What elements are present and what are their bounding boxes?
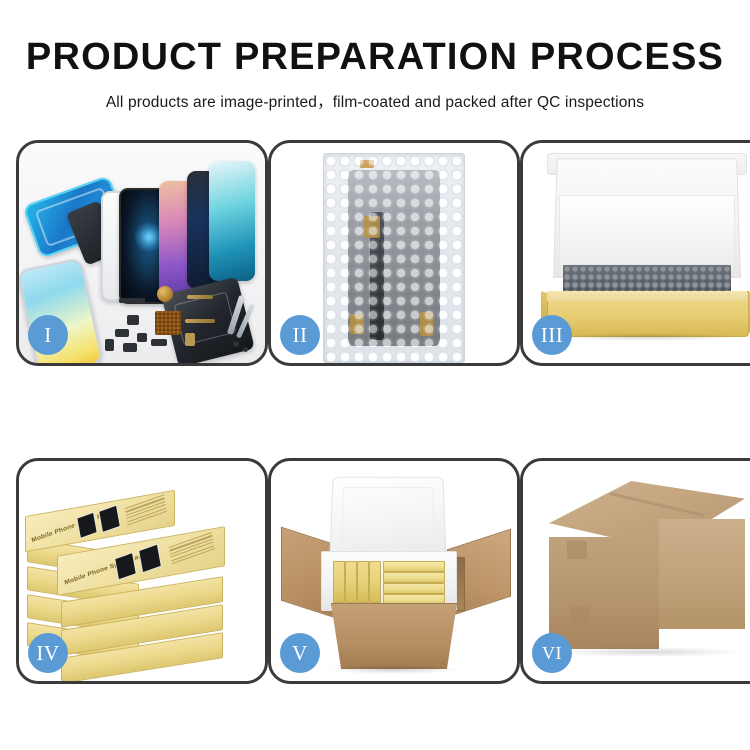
step-badge-3: III <box>532 315 572 355</box>
photo-product-parts-overview: I <box>19 143 265 363</box>
photo-bubble-wrap-packing: II <box>271 143 517 363</box>
step-panel-4: Mobile Phone Spare Parts Mobi <box>16 458 268 684</box>
packed-yellow-box-6 <box>383 572 445 583</box>
photo-sealed-shipping-carton: VI <box>523 461 750 681</box>
step-badge-2: II <box>280 315 320 355</box>
photo-foam-box-packing: III <box>523 143 750 363</box>
part-speaker-mesh <box>119 298 145 303</box>
packed-yellow-box-4 <box>369 561 381 603</box>
part-screws-2 <box>243 347 248 352</box>
step-badge-1: I <box>28 315 68 355</box>
part-earpiece <box>123 343 137 352</box>
part-button-set <box>151 339 167 346</box>
packed-yellow-box-1 <box>333 561 345 603</box>
photo-carton-inner-packing: V <box>271 461 517 681</box>
header: PRODUCT PREPARATION PROCESS All products… <box>0 0 750 112</box>
part-vibration-motor <box>157 286 173 302</box>
part-flex-cable-2 <box>185 319 215 323</box>
foam-sheet-image <box>559 195 735 269</box>
tape-top <box>360 160 374 168</box>
step-panel-5: V <box>268 458 520 684</box>
connector-bottom-left <box>350 314 364 334</box>
part-connector-2 <box>137 333 147 342</box>
connector-bottom-right <box>420 312 433 336</box>
photo-retail-box-stack: Mobile Phone Spare Parts Mobi <box>19 461 265 681</box>
yellow-box-front-edge <box>547 291 747 301</box>
phone-teal-image <box>209 161 255 281</box>
packed-yellow-box-5 <box>383 561 445 572</box>
part-screws <box>233 341 239 347</box>
step-badge-4: IV <box>28 633 68 673</box>
carton-shadow <box>553 647 743 657</box>
process-steps-grid: I II <box>16 140 734 684</box>
carton-tape-lower <box>571 607 589 625</box>
foam-box-lid-image <box>329 477 446 558</box>
step-panel-2: II <box>268 140 520 366</box>
packed-yellow-box-7 <box>383 583 445 594</box>
part-connector-1 <box>115 329 129 337</box>
carton-shadow <box>329 665 457 674</box>
carton-front-panel <box>331 603 457 669</box>
step-panel-6: VI <box>520 458 750 684</box>
step-panel-1: I <box>16 140 268 366</box>
bubble-wrap-bag-image <box>323 153 465 363</box>
step-badge-5: V <box>280 633 320 673</box>
page-subtitle: All products are image-printed，film-coat… <box>0 90 750 112</box>
carton-right-face <box>659 519 745 629</box>
product-preparation-infographic: PRODUCT PREPARATION PROCESS All products… <box>0 0 750 750</box>
page-title: PRODUCT PREPARATION PROCESS <box>0 38 750 78</box>
part-sim-tray <box>185 333 195 346</box>
part-small-bracket <box>105 339 114 351</box>
part-camera-module <box>127 315 139 325</box>
connector-mid <box>364 216 380 238</box>
bubble-wrapped-items-image <box>563 265 731 293</box>
step-badge-6: VI <box>532 633 572 673</box>
packed-yellow-box-3 <box>357 561 369 603</box>
packed-yellow-box-2 <box>345 561 357 603</box>
carton-tape-upper <box>567 541 587 559</box>
carton-front-face <box>549 537 659 649</box>
part-flex-cable-1 <box>187 295 213 299</box>
box-shadow <box>557 333 737 341</box>
step-panel-3: III <box>520 140 750 366</box>
part-ic-chip-grid <box>155 311 181 335</box>
